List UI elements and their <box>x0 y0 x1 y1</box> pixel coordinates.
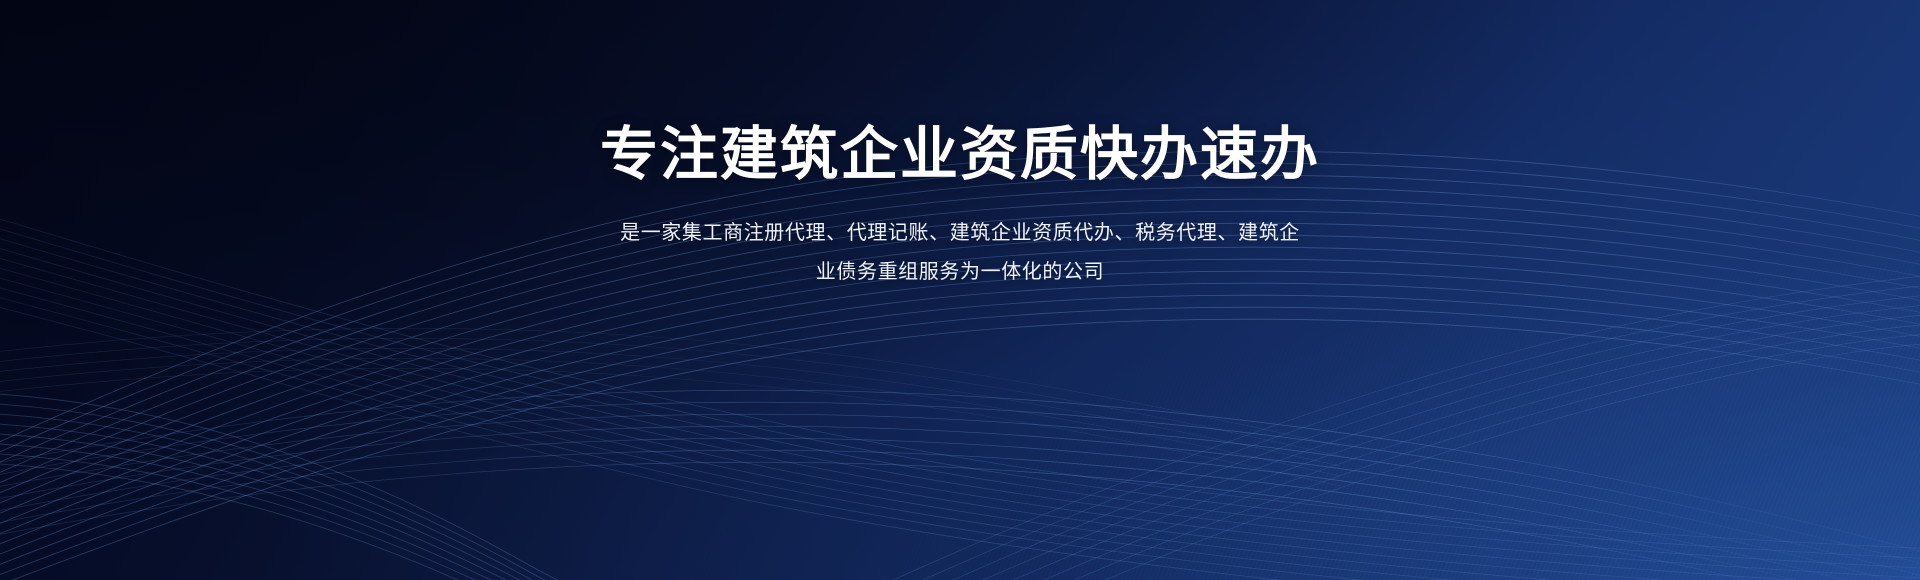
banner-content: 专注建筑企业资质快办速办 是一家集工商注册代理、代理记账、建筑企业资质代办、税务… <box>0 0 1920 580</box>
banner-subtitle-line-1: 是一家集工商注册代理、代理记账、建筑企业资质代办、税务代理、建筑企 <box>595 213 1325 252</box>
banner-subtitle-line-2: 业债务重组服务为一体化的公司 <box>595 252 1325 291</box>
hero-banner: 专注建筑企业资质快办速办 是一家集工商注册代理、代理记账、建筑企业资质代办、税务… <box>0 0 1920 580</box>
banner-subtitle: 是一家集工商注册代理、代理记账、建筑企业资质代办、税务代理、建筑企 业债务重组服… <box>595 187 1325 291</box>
banner-headline: 专注建筑企业资质快办速办 <box>600 0 1320 187</box>
